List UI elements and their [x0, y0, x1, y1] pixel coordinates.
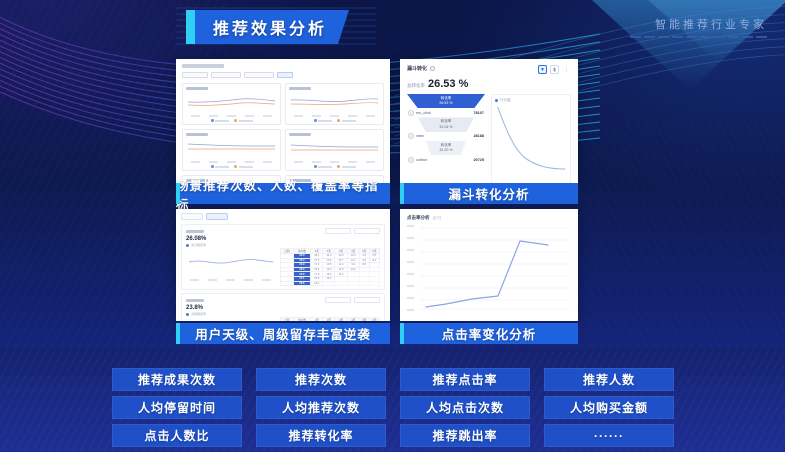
cohort-table: 日期 用户数 1周 2周 3周 4周 5周 6周 ·23.816.213.011… [280, 317, 380, 321]
tab-weekly-retention[interactable] [206, 213, 228, 220]
dashboard-filters [182, 72, 384, 78]
legend-dot [495, 99, 498, 102]
caption-text: 用户天级、周级留存丰富逆袭 [195, 324, 371, 343]
funnel-body: 转化率 26.53 % 1 rec_click 78107 转化率 32.24 … [407, 94, 571, 183]
metric-button-avg-purchase-amount[interactable]: 人均购买金额 [544, 396, 674, 419]
metric-button-more[interactable]: ······ [544, 424, 674, 447]
legend-label: 次周留存率 [191, 312, 206, 316]
decay-curve [495, 103, 567, 175]
funnel-step-value: 28188 [473, 134, 484, 138]
metric-button-recommend-users[interactable]: 推荐人数 [544, 368, 674, 391]
funnel-step-name: collect [416, 158, 427, 162]
mini-chart [285, 129, 384, 171]
col-w3: 3周 [335, 318, 347, 321]
brand-dash-decoration [630, 36, 767, 38]
funnel-segment: 转化率 32.20 % [407, 141, 485, 155]
caption-scene-metrics: 场景推荐次数、人数、覆盖率等指标 [176, 183, 390, 204]
funnel-decay-chart: 行为量 [491, 94, 571, 183]
card-controls [325, 297, 380, 303]
background-diagonal-texture-right [585, 120, 785, 350]
retention-card-header [186, 228, 380, 234]
retention-card: 23.8% 次周留存率 日期 用户数 1周 [181, 293, 385, 321]
caption-click-rate: 点击率变化分析 [400, 323, 578, 344]
retention-percentage: 26.08% [186, 236, 380, 242]
brand-tagline: 智能推荐行业专家 [630, 16, 767, 38]
caption-retention: 用户天级、周级留存丰富逆袭 [176, 323, 390, 344]
funnel-step-index: 1 [408, 110, 414, 116]
metric-button-recommend-conversion-rate[interactable]: 推荐转化率 [256, 424, 386, 447]
col-w2: 2周 [323, 318, 335, 321]
funnel-toolbar: ▼ ▮ ⋮ [538, 65, 571, 74]
retention-card: 26.08% 次日留存率 日期 用户数 1天 [181, 224, 385, 290]
select-control[interactable] [325, 297, 351, 303]
funnel-step-row: 2 view 28188 [407, 132, 485, 141]
funnel-rate-value: 26.53 % [428, 78, 468, 90]
funnel-rate-label: 总转化率 [407, 83, 425, 89]
caption-accent [400, 183, 404, 204]
funnel-overall-rate: 总转化率 26.53 % [407, 78, 571, 90]
retention-cohort-table: 日期 用户数 1天 2天 3天 4天 5天 6天 ·26.018.114.212… [280, 248, 380, 286]
metric-button-click-user-ratio[interactable]: 点击人数比 [112, 424, 242, 447]
click-rate-plot [407, 225, 571, 311]
retention-card-body: 日期 用户数 1天 2天 3天 4天 5天 6天 ·26.018.114.212… [186, 248, 380, 286]
dashboard-title-placeholder [182, 64, 224, 68]
click-rate-mock: 点击率分析 近7日 [400, 209, 578, 317]
caption-text: 场景推荐次数、人数、覆盖率等指标 [176, 175, 390, 213]
mini-chart [182, 83, 281, 125]
col-w1: 1周 [311, 318, 323, 321]
metric-button-avg-recommend-count[interactable]: 人均推荐次数 [256, 396, 386, 419]
card-title-placeholder [186, 299, 204, 302]
col-w6: 6周 [369, 318, 379, 321]
funnel-segment: 转化率 32.24 % [407, 117, 485, 131]
funnel-title: 漏斗转化 [407, 65, 427, 72]
col-w5: 5周 [359, 318, 369, 321]
panel-funnel-screenshot: 漏斗转化 ▼ ▮ ⋮ 总转化率 26.53 % 转化率 26.53 % 1 re [400, 59, 578, 183]
dashboard-chart-grid [182, 83, 384, 183]
legend-label: 次日留存率 [191, 243, 206, 247]
retention-line-chart [186, 317, 275, 321]
click-rate-title: 点击率分析 [407, 215, 430, 221]
funnel-icon[interactable]: ▼ [538, 65, 547, 74]
funnel-step-index: 2 [408, 133, 414, 139]
caption-text: 点击率变化分析 [442, 324, 537, 343]
funnel-step-value: 78107 [473, 111, 484, 115]
funnel-step-name: view [416, 134, 424, 138]
y-axis-ticks [407, 225, 419, 311]
table-header-row: 日期 用户数 1周 2周 3周 4周 5周 6周 [281, 318, 380, 321]
retention-card-header [186, 297, 380, 303]
click-rate-line-chart [420, 225, 570, 311]
bar-chart-icon[interactable]: ▮ [550, 65, 559, 74]
metric-button-recommend-bounce-rate[interactable]: 推荐跳出率 [400, 424, 530, 447]
retention-mock: 26.08% 次日留存率 日期 用户数 1天 [176, 209, 390, 321]
caption-accent [400, 323, 404, 344]
retention-legend: 次周留存率 [186, 312, 380, 316]
legend-dot [186, 313, 189, 316]
funnel-segment-value: 32.24 % [407, 125, 485, 130]
funnel-segment-label: 转化率 [407, 119, 485, 124]
funnel-mock: 漏斗转化 ▼ ▮ ⋮ 总转化率 26.53 % 转化率 26.53 % 1 re [400, 59, 578, 183]
caption-funnel: 漏斗转化分析 [400, 183, 578, 204]
retention-legend: 次日留存率 [186, 243, 380, 247]
funnel-header: 漏斗转化 ▼ ▮ ⋮ [407, 65, 571, 74]
date-control[interactable] [354, 297, 380, 303]
title-accent-bar [186, 10, 195, 44]
date-control[interactable] [354, 228, 380, 234]
page-title: 推荐效果分析 [213, 15, 327, 39]
funnel-steps: 转化率 26.53 % 1 rec_click 78107 转化率 32.24 … [407, 94, 485, 183]
select-control[interactable] [325, 228, 351, 234]
mini-chart [285, 83, 384, 125]
col-w4: 4周 [347, 318, 359, 321]
col-users: 用户数 [293, 318, 311, 321]
table-row: ·26.618.2····· [281, 281, 380, 286]
panel-click-rate-screenshot: 点击率分析 近7日 [400, 209, 578, 321]
metric-button-recommend-ctr[interactable]: 推荐点击率 [400, 368, 530, 391]
funnel-step-value: 20725 [473, 158, 484, 162]
funnel-title-group: 漏斗转化 [407, 65, 435, 72]
card-title-placeholder [186, 230, 204, 233]
retention-tabs [181, 213, 385, 220]
retention-cohort-table: 日期 用户数 1周 2周 3周 4周 5周 6周 ·23.816.213.011… [280, 317, 380, 321]
legend-dot [186, 244, 189, 247]
funnel-step-row: 1 rec_click 78107 [407, 108, 485, 117]
col-date: 日期 [281, 318, 293, 321]
funnel-step-name: rec_click [416, 111, 431, 115]
metric-button-recommend-count[interactable]: 推荐次数 [256, 368, 386, 391]
caption-accent [176, 183, 180, 204]
metric-button-avg-dwell-time[interactable]: 人均停留时间 [112, 396, 242, 419]
funnel-segment-value: 26.53 % [407, 101, 485, 106]
card-controls [325, 228, 380, 234]
caption-text: 漏斗转化分析 [448, 184, 529, 203]
brand-text: 智能推荐行业专家 [630, 16, 767, 32]
click-rate-header: 点击率分析 近7日 [407, 215, 571, 221]
metrics-button-grid: 推荐成果次数 推荐次数 推荐点击率 推荐人数 人均停留时间 人均推荐次数 人均点… [112, 368, 674, 447]
dashboard-mock [176, 59, 390, 183]
mini-chart [182, 129, 281, 171]
title-band: 推荐效果分析 [195, 10, 349, 44]
panel-retention-screenshot: 26.08% 次日留存率 日期 用户数 1天 [176, 209, 390, 321]
funnel-segment-value: 32.20 % [407, 148, 485, 153]
panel-scene-metrics-screenshot [176, 59, 390, 183]
tab-daily-retention[interactable] [181, 213, 203, 220]
page-title-banner: 推荐效果分析 [186, 10, 349, 44]
metric-button-recommend-result-count[interactable]: 推荐成果次数 [112, 368, 242, 391]
caption-accent [176, 323, 180, 344]
funnel-segment: 转化率 26.53 % [407, 94, 485, 108]
more-icon[interactable]: ⋮ [562, 65, 571, 74]
click-rate-subtitle: 近7日 [433, 216, 442, 221]
funnel-step-row: 3 collect 20725 [407, 155, 485, 164]
retention-percentage: 23.8% [186, 305, 380, 311]
metric-button-avg-click-count[interactable]: 人均点击次数 [400, 396, 530, 419]
retention-line-chart [186, 248, 275, 286]
info-icon [430, 66, 435, 71]
funnel-step-index: 3 [408, 157, 414, 163]
retention-card-body: 日期 用户数 1周 2周 3周 4周 5周 6周 ·23.816.213.011… [186, 317, 380, 321]
cohort-table: 日期 用户数 1天 2天 3天 4天 5天 6天 ·26.018.114.212… [280, 248, 380, 286]
